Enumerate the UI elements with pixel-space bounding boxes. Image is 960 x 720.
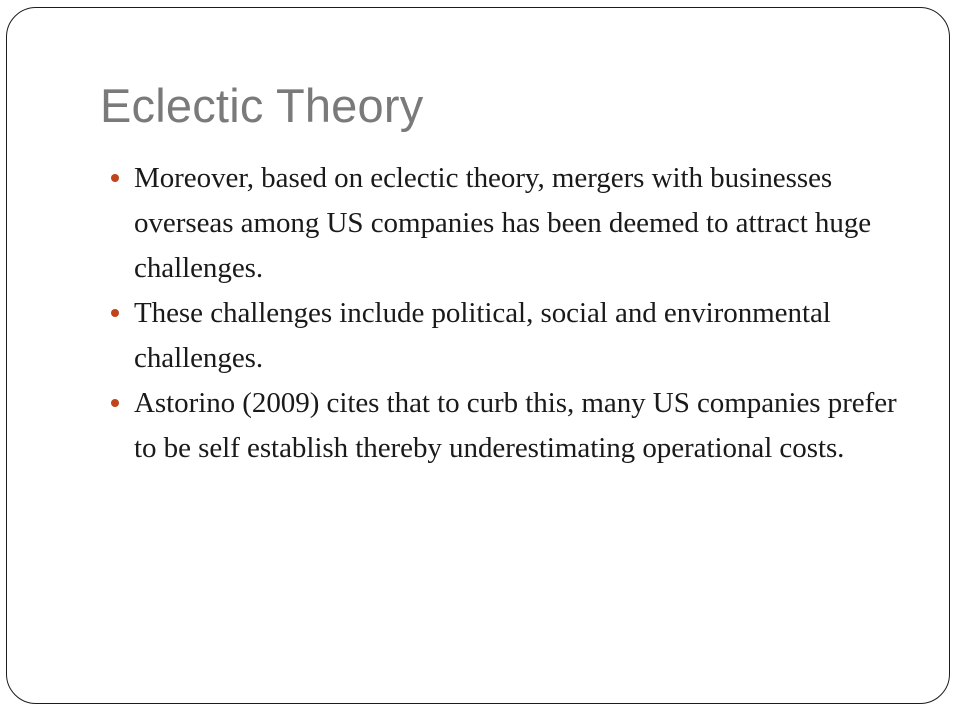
presentation-slide: Eclectic Theory Moreover, based on eclec… bbox=[0, 0, 960, 720]
list-item-text: These challenges include political, soci… bbox=[134, 291, 904, 381]
list-item: Astorino (2009) cites that to curb this,… bbox=[104, 381, 904, 471]
list-item-text: Moreover, based on eclectic theory, merg… bbox=[134, 156, 904, 291]
list-item: These challenges include political, soci… bbox=[104, 291, 904, 381]
bullet-dot-icon bbox=[111, 309, 119, 317]
list-item-text: Astorino (2009) cites that to curb this,… bbox=[134, 381, 904, 471]
page-title: Eclectic Theory bbox=[100, 78, 900, 134]
bullet-dot-icon bbox=[111, 174, 119, 182]
bullet-dot-icon bbox=[111, 399, 119, 407]
list-item: Moreover, based on eclectic theory, merg… bbox=[104, 156, 904, 291]
bullet-list: Moreover, based on eclectic theory, merg… bbox=[104, 156, 904, 471]
